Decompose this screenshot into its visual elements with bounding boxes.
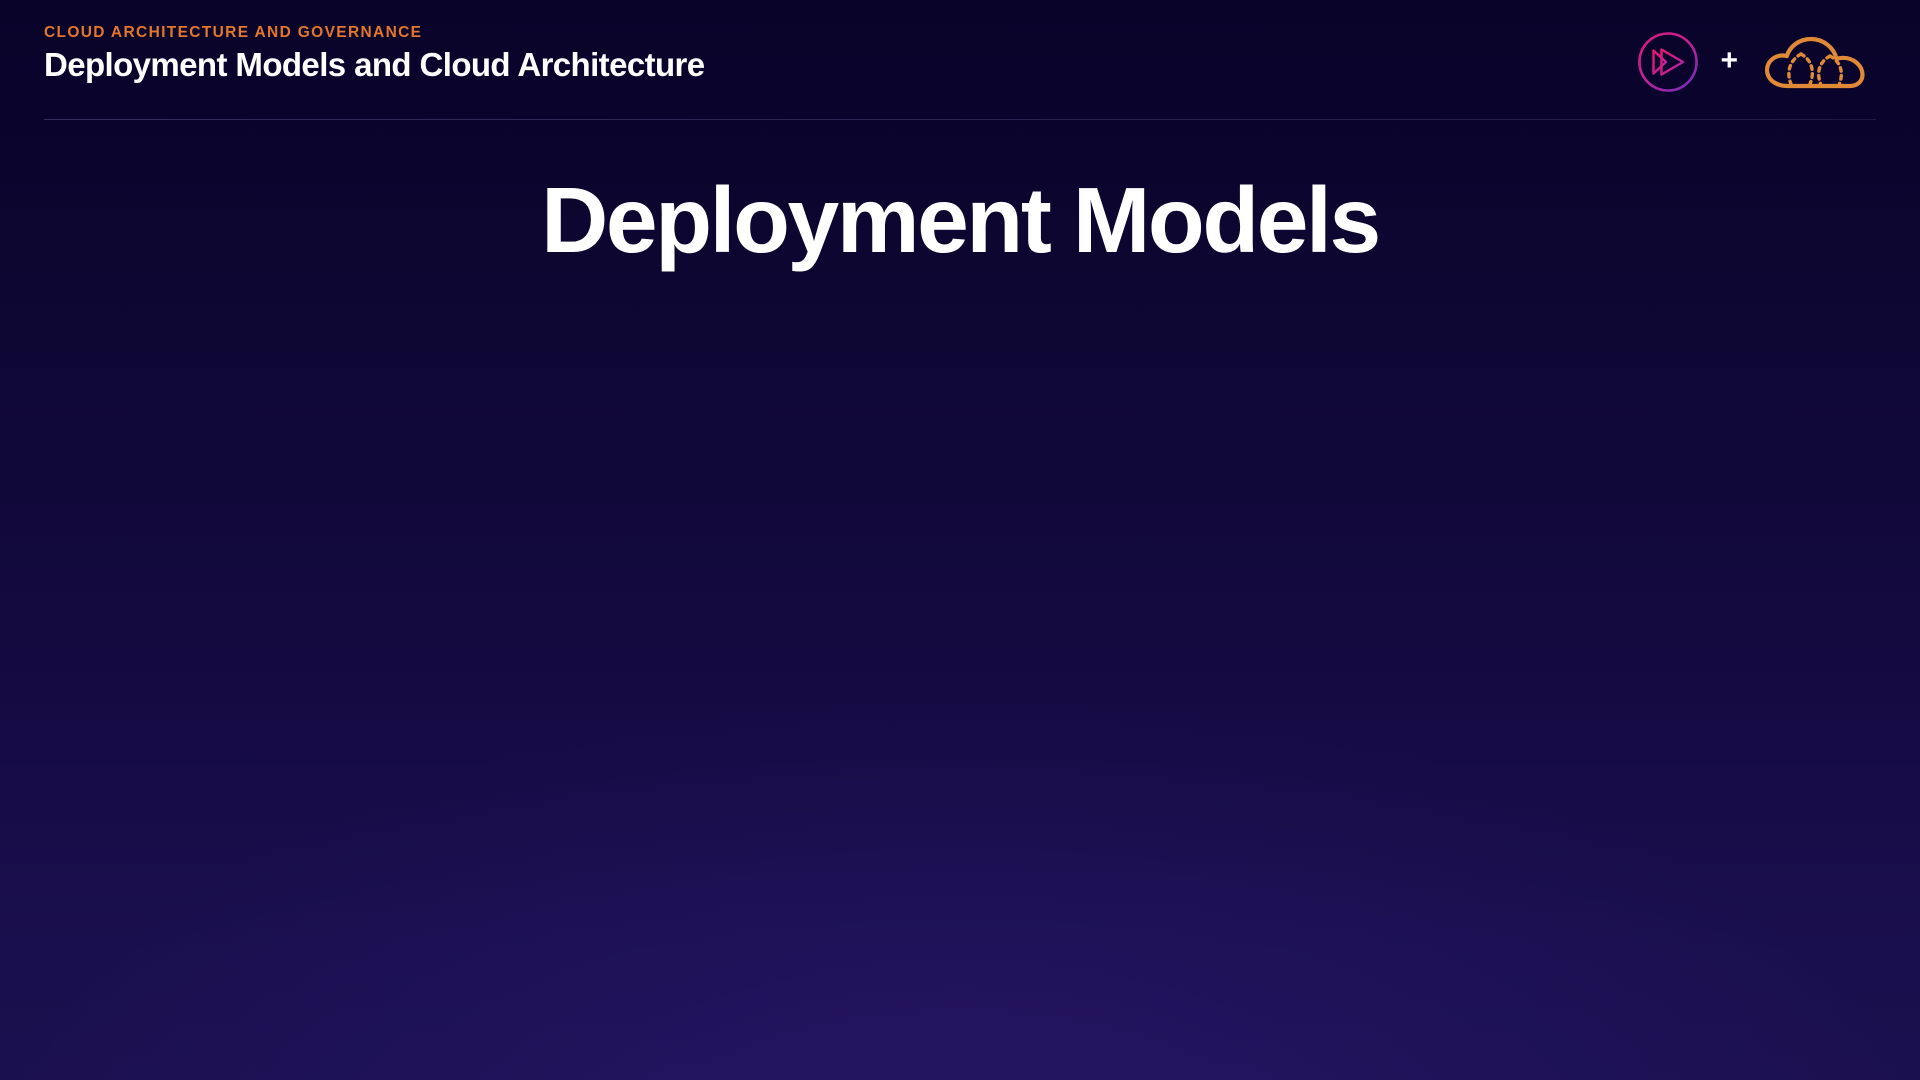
plus-icon: +: [1720, 46, 1738, 76]
slide-header-title: Deployment Models and Cloud Architecture: [44, 47, 705, 84]
slide-content-area: [160, 320, 1760, 1020]
slide-header: CLOUD ARCHITECTURE AND GOVERNANCE Deploy…: [0, 0, 1920, 120]
cloud-logo-icon: [1758, 30, 1876, 94]
slide-body: Deployment Models: [0, 120, 1920, 1080]
slide-root: CLOUD ARCHITECTURE AND GOVERNANCE Deploy…: [0, 0, 1920, 1080]
play-button-logo-icon: [1636, 30, 1700, 94]
slide-kicker: CLOUD ARCHITECTURE AND GOVERNANCE: [44, 25, 705, 41]
brand-lockup: +: [1636, 22, 1876, 94]
header-text-block: CLOUD ARCHITECTURE AND GOVERNANCE Deploy…: [44, 22, 705, 83]
slide-main-heading: Deployment Models: [0, 172, 1920, 270]
